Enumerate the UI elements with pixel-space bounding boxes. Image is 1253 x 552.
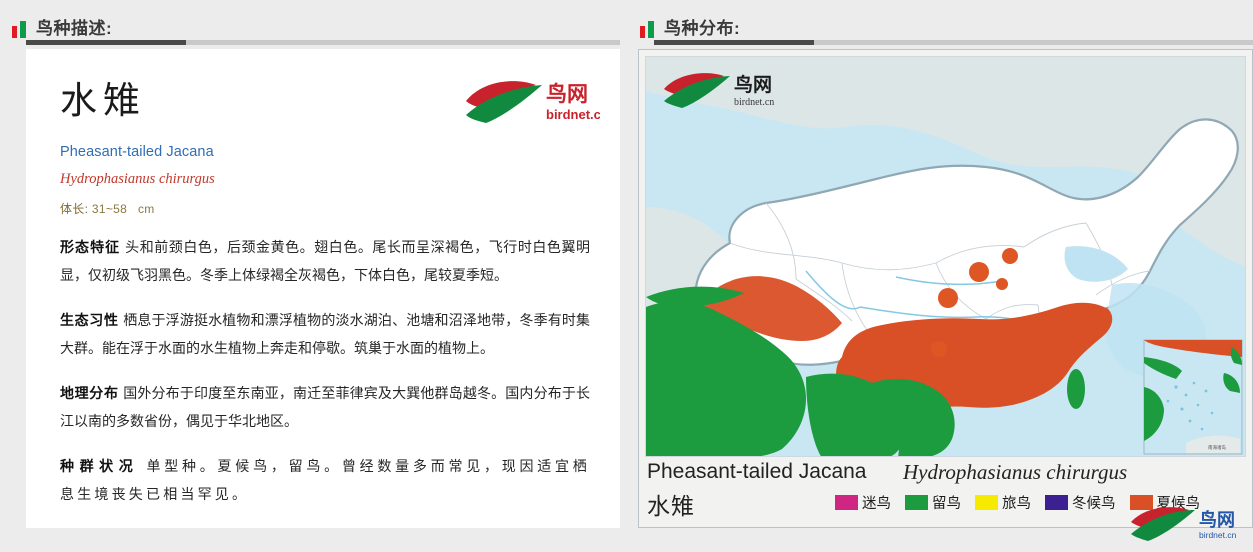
birdnet-map-logo: 鸟网 birdnet.cn	[662, 69, 788, 121]
species-name-en: Pheasant-tailed Jacana	[60, 144, 590, 160]
section-ecology: 生态习性 栖息于浮游挺水植物和漂浮植物的淡水湖泊、池塘和沼泽地带，冬季有时集大群…	[60, 307, 590, 363]
species-distribution-panel: 鸟种分布:	[628, 0, 1253, 38]
legend-item-vagrant: 迷鸟	[835, 492, 891, 513]
section-morphology-heading: 形态特征	[60, 240, 120, 256]
size-unit: cm	[138, 202, 155, 216]
section-population-heading: 种群状况	[60, 459, 138, 475]
section-morphology-text: 头和前颈白色，后颈金黄色。翅白色。尾长而呈深褐色，飞行时白色翼明显，仅初级飞羽黑…	[60, 240, 590, 284]
description-panel-underline	[26, 40, 620, 45]
caption-name-cn: 水雉	[647, 487, 695, 521]
description-panel-title: 鸟种描述:	[36, 14, 112, 39]
section-distribution-heading: 地理分布	[60, 386, 119, 402]
legend-item-passage: 旅鸟	[975, 492, 1031, 513]
legend-item-winter: 冬候鸟	[1045, 492, 1116, 513]
legend-item-resident: 留鸟	[905, 492, 961, 513]
legend-swatch-vagrant	[835, 495, 858, 510]
page-root: 鸟种描述: 鸟网 birdnet.cn 水雉 Pheasant-tailed J…	[0, 0, 1253, 552]
bar-chart-icon	[640, 21, 658, 38]
svg-text:birdnet.cn: birdnet.cn	[1199, 530, 1237, 540]
svg-text:鸟网: 鸟网	[546, 82, 588, 106]
distribution-content-card: 南海诸岛 鸟网 birdnet.cn Pheasant-tailed Jacan…	[638, 49, 1253, 528]
species-name-scientific: Hydrophasianus chirurgus	[60, 171, 590, 188]
legend-swatch-resident	[905, 495, 928, 510]
section-ecology-heading: 生态习性	[60, 313, 119, 329]
legend-label-passage: 旅鸟	[1002, 492, 1031, 513]
south-china-sea-inset: 南海诸岛	[1144, 340, 1242, 454]
svg-text:鸟网: 鸟网	[1199, 509, 1235, 531]
size-label: 体长:	[60, 202, 88, 216]
section-population: 种群状况 单型种。夏候鸟，留鸟。曾经数量多而常见，现因适宜栖息生境丧失已相当罕见…	[60, 453, 590, 509]
legend-label-winter: 冬候鸟	[1072, 492, 1116, 513]
section-population-text: 单型种。夏候鸟，留鸟。曾经数量多而常见，现因适宜栖息生境丧失已相当罕见。	[60, 459, 590, 503]
caption-name-en: Pheasant-tailed Jacana	[647, 460, 867, 484]
distribution-panel-underline	[654, 40, 1253, 45]
caption-name-scientific: Hydrophasianus chirurgus	[903, 460, 1127, 485]
description-panel-header: 鸟种描述:	[0, 0, 620, 38]
size-value: 31~58	[92, 202, 127, 216]
legend-label-vagrant: 迷鸟	[862, 492, 891, 513]
legend-label-resident: 留鸟	[932, 492, 961, 513]
svg-text:鸟网: 鸟网	[734, 73, 772, 96]
legend-swatch-winter	[1045, 495, 1068, 510]
inset-label: 南海诸岛	[1208, 444, 1226, 451]
svg-text:birdnet.cn: birdnet.cn	[546, 107, 600, 122]
distribution-map[interactable]: 南海诸岛 鸟网 birdnet.cn	[645, 56, 1246, 457]
bar-chart-icon	[12, 21, 30, 38]
distribution-panel-title: 鸟种分布:	[664, 14, 740, 39]
species-size-line: 体长: 31~58 cm	[60, 200, 590, 217]
section-distribution: 地理分布 国外分布于印度至东南亚，南迁至菲律宾及大巽他群岛越冬。国内分布于长江以…	[60, 380, 590, 436]
birdnet-logo: 鸟网 birdnet.cn	[462, 75, 600, 133]
section-ecology-text: 栖息于浮游挺水植物和漂浮植物的淡水湖泊、池塘和沼泽地带，冬季有时集大群。能在浮于…	[60, 313, 590, 357]
section-distribution-text: 国外分布于印度至东南亚，南迁至菲律宾及大巽他群岛越冬。国内分布于长江以南的多数省…	[60, 386, 590, 430]
description-content-card: 鸟网 birdnet.cn 水雉 Pheasant-tailed Jacana …	[26, 49, 620, 528]
birdnet-corner-watermark: 鸟网 birdnet.cn	[1129, 504, 1249, 550]
legend-swatch-passage	[975, 495, 998, 510]
species-description-panel: 鸟种描述: 鸟网 birdnet.cn 水雉 Pheasant-tailed J…	[0, 0, 620, 38]
section-morphology: 形态特征 头和前颈白色，后颈金黄色。翅白色。尾长而呈深褐色，飞行时白色翼明显，仅…	[60, 234, 590, 290]
svg-text:birdnet.cn: birdnet.cn	[734, 97, 774, 108]
distribution-panel-header: 鸟种分布:	[628, 0, 1253, 38]
